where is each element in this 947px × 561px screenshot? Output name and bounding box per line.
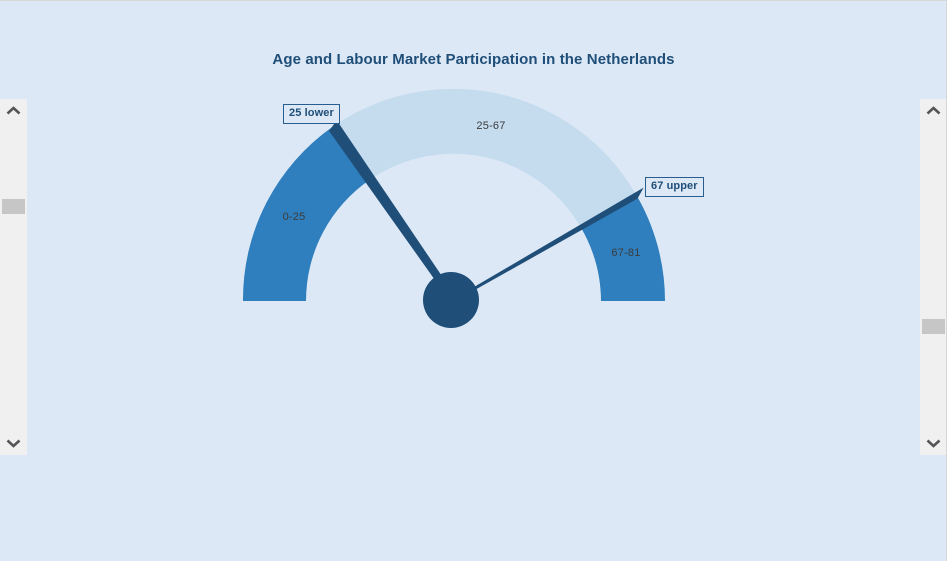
scroll-up-button-left[interactable]	[0, 99, 27, 123]
gauge-band-label-0-25: 0-25	[283, 211, 306, 223]
scrollbar-thumb-right[interactable]	[922, 319, 945, 334]
chevron-up-icon	[926, 106, 941, 116]
chevron-down-icon	[926, 438, 941, 448]
chevron-up-icon	[6, 106, 21, 116]
gauge-graphic	[0, 1, 947, 468]
scroll-down-button-left[interactable]	[0, 431, 27, 455]
needle-callout-lower: 25 lower	[283, 104, 340, 124]
needle-callout-upper: 67 upper	[645, 177, 704, 197]
scrollbar-left[interactable]	[0, 99, 27, 455]
scrollbar-thumb-left[interactable]	[2, 199, 25, 214]
scroll-up-button-right[interactable]	[920, 99, 947, 123]
gauge-band-25-67	[333, 89, 635, 227]
scrollbar-right[interactable]	[920, 99, 947, 455]
gauge-hub	[423, 272, 479, 328]
gauge-band-label-67-81: 67-81	[611, 247, 640, 259]
chevron-down-icon	[6, 438, 21, 448]
gauge-chart: Age and Labour Market Participation in t…	[0, 1, 947, 468]
application-window: Age and Labour Market Participation in t…	[0, 0, 947, 561]
scroll-down-button-right[interactable]	[920, 431, 947, 455]
gauge-band-label-25-67: 25-67	[476, 120, 505, 132]
